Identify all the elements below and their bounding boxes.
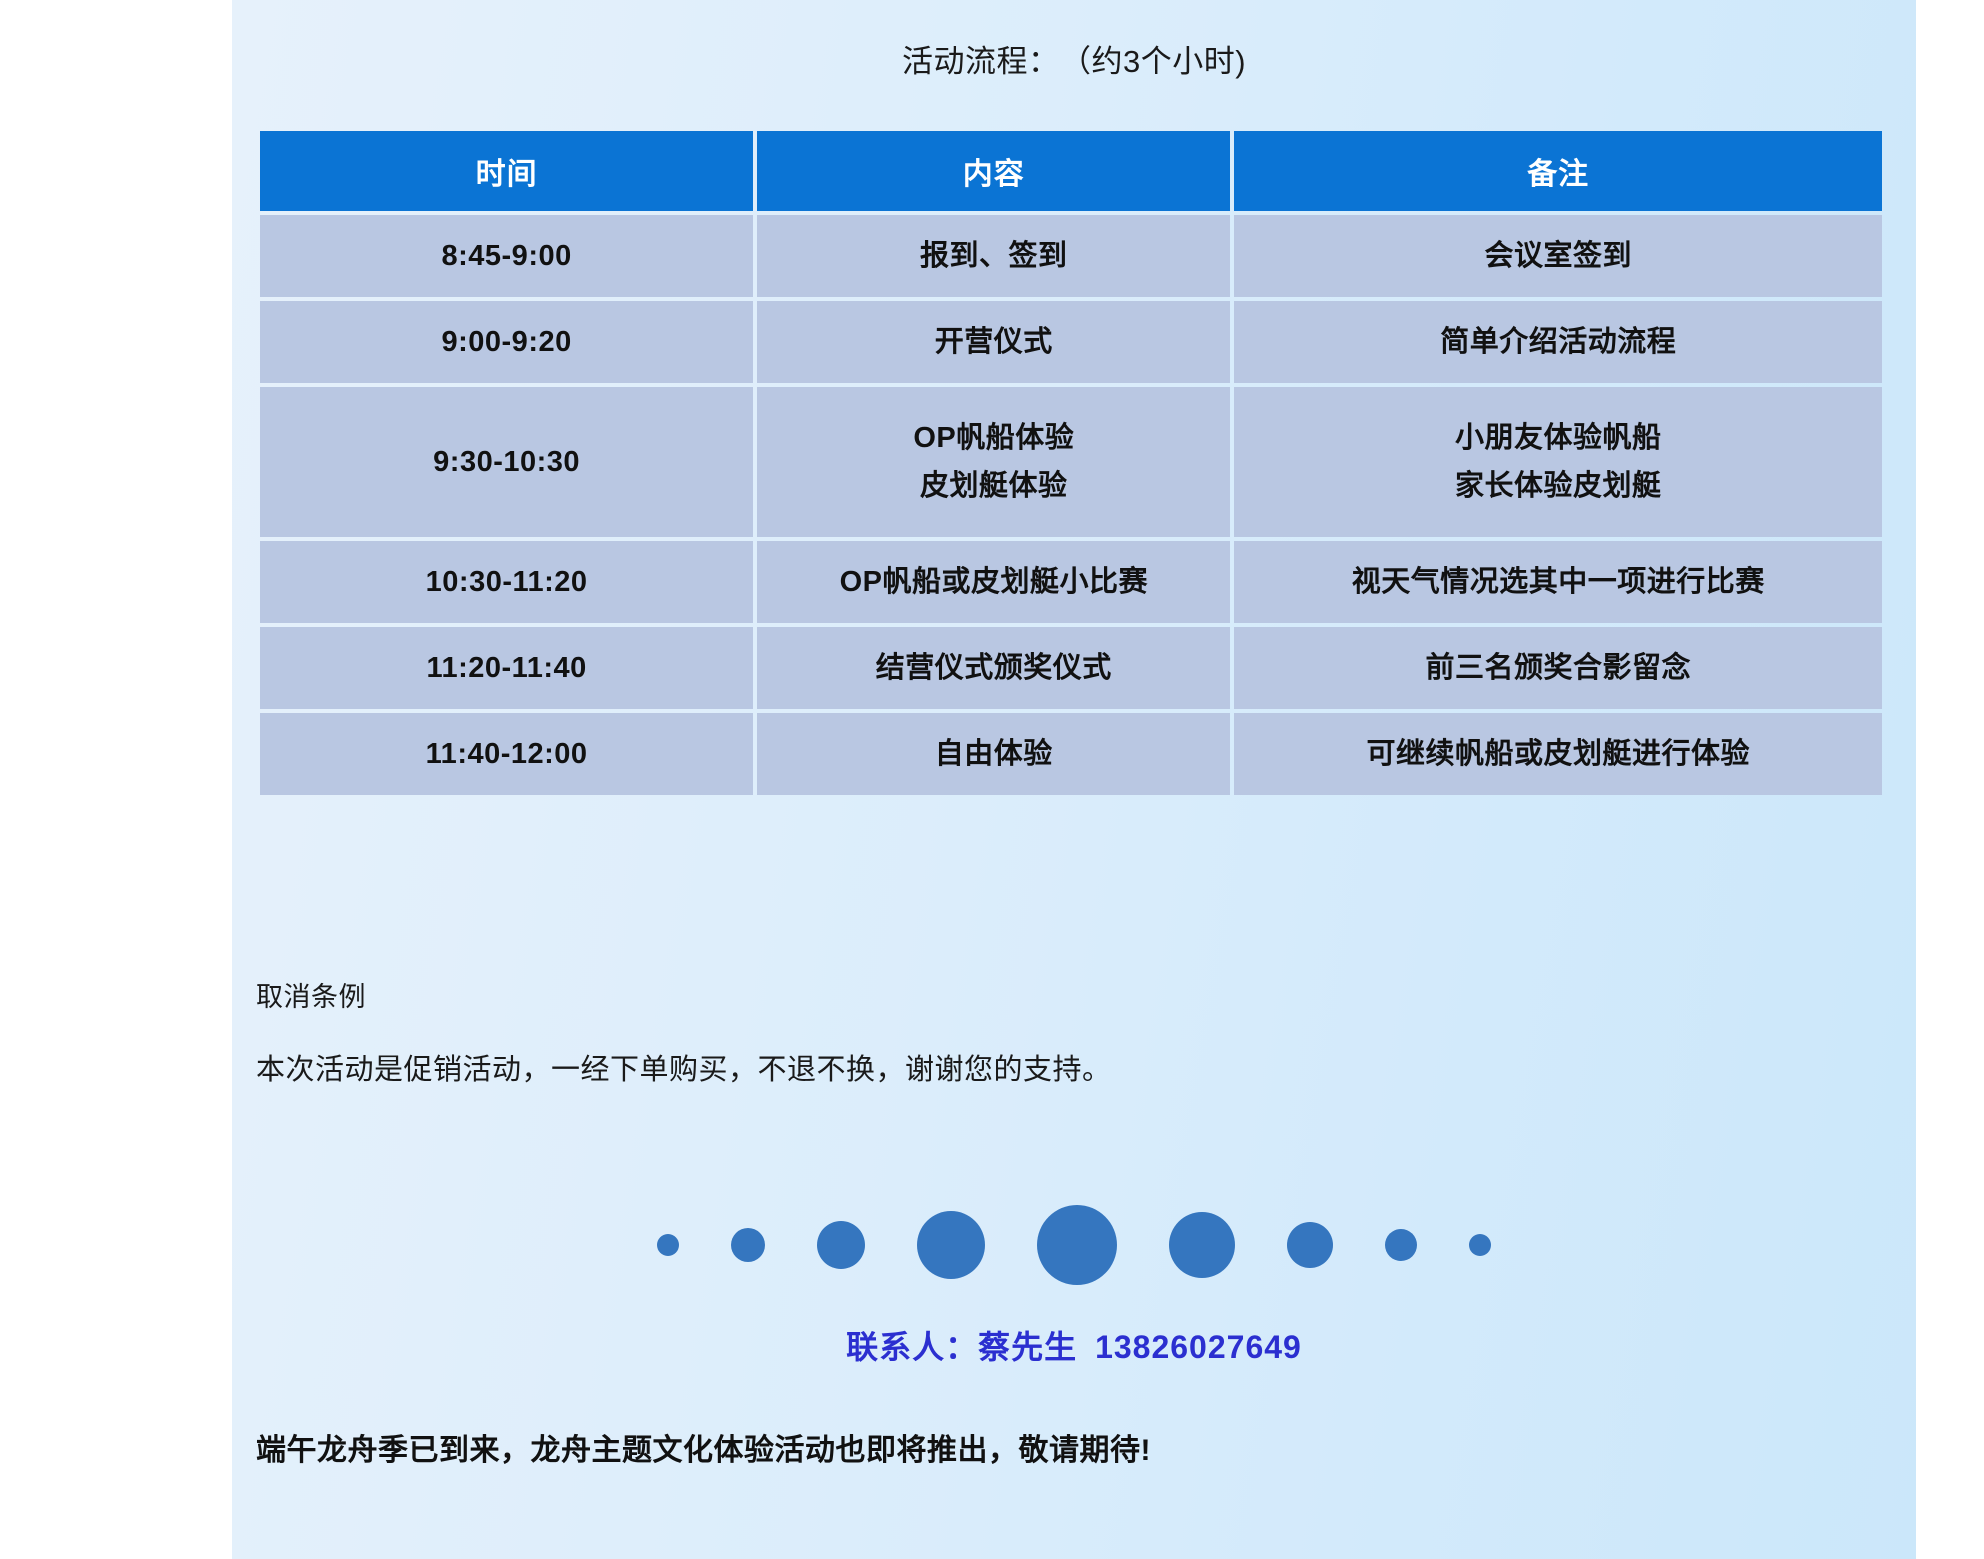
cancellation-policy: 取消条例 本次活动是促销活动，一经下单购买，不退不换，谢谢您的支持。 <box>256 975 1856 1088</box>
decorative-dot <box>731 1228 765 1262</box>
cell-content: 开营仪式 <box>757 301 1230 383</box>
cell-line: 报到、签到 <box>758 235 1229 277</box>
cell-line: 9:30-10:30 <box>261 441 752 483</box>
cell-line: 前三名颁奖合影留念 <box>1235 647 1881 689</box>
decorative-dot <box>1037 1205 1117 1285</box>
decorative-dot <box>1169 1212 1235 1278</box>
cell-note: 前三名颁奖合影留念 <box>1234 627 1882 709</box>
cell-line: 皮划艇体验 <box>758 465 1229 507</box>
table-row: 11:40-12:00自由体验可继续帆船或皮划艇进行体验 <box>260 713 1882 795</box>
cell-line: 8:45-9:00 <box>261 235 752 277</box>
schedule-table-body: 8:45-9:00报到、签到会议室签到9:00-9:20开营仪式简单介绍活动流程… <box>260 215 1882 795</box>
cell-line: 10:30-11:20 <box>261 561 752 603</box>
table-row: 9:00-9:20开营仪式简单介绍活动流程 <box>260 301 1882 383</box>
decorative-dot <box>1287 1222 1333 1268</box>
schedule-table: 时间 内容 备注 8:45-9:00报到、签到会议室签到9:00-9:20开营仪… <box>256 127 1886 799</box>
decorative-dot <box>657 1234 679 1256</box>
cell-line: 开营仪式 <box>758 321 1229 363</box>
column-header-time: 时间 <box>260 131 753 211</box>
cell-line: 可继续帆船或皮划艇进行体验 <box>1235 733 1881 775</box>
cell-line: 家长体验皮划艇 <box>1235 465 1881 507</box>
contact-line: 联系人：蔡先生 13826027649 <box>232 1322 1916 1368</box>
cell-line: 会议室签到 <box>1235 235 1881 277</box>
page-root: 活动流程： （约3个小时) 时间 内容 备注 8:45-9:00报到、签到会议室… <box>0 0 1984 1559</box>
cell-line: 11:20-11:40 <box>261 647 752 689</box>
cell-time: 9:30-10:30 <box>260 387 753 537</box>
cell-note: 简单介绍活动流程 <box>1234 301 1882 383</box>
cell-line: 简单介绍活动流程 <box>1235 321 1881 363</box>
decorative-dot <box>1469 1234 1491 1256</box>
table-header-row: 时间 内容 备注 <box>260 131 1882 211</box>
contact-label: 联系人：蔡先生 <box>846 1329 1077 1365</box>
decorative-dot <box>917 1211 985 1279</box>
closing-note: 端午龙舟季已到来，龙舟主题文化体验活动也即将推出，敬请期待! <box>256 1425 1856 1469</box>
cell-content: 结营仪式颁奖仪式 <box>757 627 1230 709</box>
content-panel: 活动流程： （约3个小时) 时间 内容 备注 8:45-9:00报到、签到会议室… <box>232 0 1916 1559</box>
cell-line: 视天气情况选其中一项进行比赛 <box>1235 561 1881 603</box>
table-row: 10:30-11:20OP帆船或皮划艇小比赛视天气情况选其中一项进行比赛 <box>260 541 1882 623</box>
table-row: 11:20-11:40结营仪式颁奖仪式前三名颁奖合影留念 <box>260 627 1882 709</box>
cell-time: 11:40-12:00 <box>260 713 753 795</box>
cell-note: 视天气情况选其中一项进行比赛 <box>1234 541 1882 623</box>
contact-phone[interactable]: 13826027649 <box>1095 1329 1302 1365</box>
cell-content: OP帆船体验皮划艇体验 <box>757 387 1230 537</box>
table-row: 9:30-10:30OP帆船体验皮划艇体验小朋友体验帆船家长体验皮划艇 <box>260 387 1882 537</box>
policy-title: 取消条例 <box>256 975 1856 1014</box>
cell-content: OP帆船或皮划艇小比赛 <box>757 541 1230 623</box>
cell-line: OP帆船体验 <box>758 417 1229 459</box>
cell-note: 可继续帆船或皮划艇进行体验 <box>1234 713 1882 795</box>
column-header-content: 内容 <box>757 131 1230 211</box>
cell-line: OP帆船或皮划艇小比赛 <box>758 561 1229 603</box>
policy-body: 本次活动是促销活动，一经下单购买，不退不换，谢谢您的支持。 <box>256 1046 1856 1088</box>
decorative-dot <box>817 1221 865 1269</box>
cell-time: 9:00-9:20 <box>260 301 753 383</box>
cell-time: 11:20-11:40 <box>260 627 753 709</box>
cell-line: 小朋友体验帆船 <box>1235 417 1881 459</box>
cell-note: 小朋友体验帆船家长体验皮划艇 <box>1234 387 1882 537</box>
cell-line: 11:40-12:00 <box>261 733 752 775</box>
cell-time: 8:45-9:00 <box>260 215 753 297</box>
cell-line: 结营仪式颁奖仪式 <box>758 647 1229 689</box>
schedule-heading: 活动流程： （约3个小时) <box>232 36 1916 81</box>
decorative-dot-row <box>232 1185 1916 1305</box>
decorative-dot <box>1385 1229 1417 1261</box>
cell-content: 自由体验 <box>757 713 1230 795</box>
cell-line: 9:00-9:20 <box>261 321 752 363</box>
cell-time: 10:30-11:20 <box>260 541 753 623</box>
column-header-note: 备注 <box>1234 131 1882 211</box>
cell-note: 会议室签到 <box>1234 215 1882 297</box>
cell-content: 报到、签到 <box>757 215 1230 297</box>
cell-line: 自由体验 <box>758 733 1229 775</box>
table-row: 8:45-9:00报到、签到会议室签到 <box>260 215 1882 297</box>
